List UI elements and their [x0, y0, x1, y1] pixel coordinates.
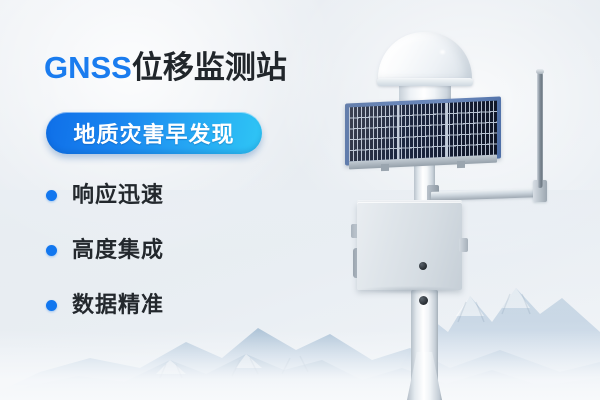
- bracket-arm: [431, 188, 541, 201]
- tagline-badge-text: 地质灾害早发现: [73, 117, 234, 149]
- page-title: GNSS位移监测站: [44, 52, 287, 83]
- whip-antenna-tip: [536, 69, 544, 74]
- list-item: 响应迅速: [46, 180, 164, 210]
- mast-bolt-lower: [419, 296, 428, 305]
- bullet-dot-icon: [46, 190, 57, 201]
- solar-panel-mount-left: [381, 164, 389, 171]
- dome-highlight: [440, 50, 445, 54]
- enclosure-drop-shadow: [359, 286, 460, 294]
- page-title-cn: 位移监测站: [132, 50, 287, 85]
- banner-stage: 环境监测站 GNSS位移监测站 地质灾害早发现 响应迅速 高度集成 数据精准: [0, 0, 600, 400]
- gnss-dome-antenna-icon: [378, 32, 472, 84]
- whip-antenna-icon: [537, 72, 543, 188]
- solar-panel-cells: [349, 101, 497, 162]
- bullet-dot-icon: [46, 300, 57, 311]
- equipment-enclosure: 环境监测站: [357, 202, 462, 290]
- feature-label: 数据精准: [72, 294, 164, 316]
- enclosure-bracket-right: [459, 238, 468, 252]
- dome-antenna-lip: [377, 78, 473, 86]
- feature-list: 响应迅速 高度集成 数据精准: [46, 180, 164, 345]
- mast-bolt-upper: [419, 262, 427, 270]
- page-title-en: GNSS: [44, 50, 132, 85]
- solar-panel-mount-right: [457, 161, 465, 168]
- list-item: 高度集成: [46, 235, 164, 265]
- tagline-badge: 地质灾害早发现: [46, 112, 262, 154]
- bullet-dot-icon: [46, 245, 57, 256]
- monitoring-station-device: 环境监测站: [335, 0, 600, 400]
- solar-panel-assembly: [345, 100, 501, 170]
- feature-label: 响应迅速: [72, 184, 164, 206]
- feature-label: 高度集成: [72, 239, 164, 261]
- list-item: 数据精准: [46, 290, 164, 320]
